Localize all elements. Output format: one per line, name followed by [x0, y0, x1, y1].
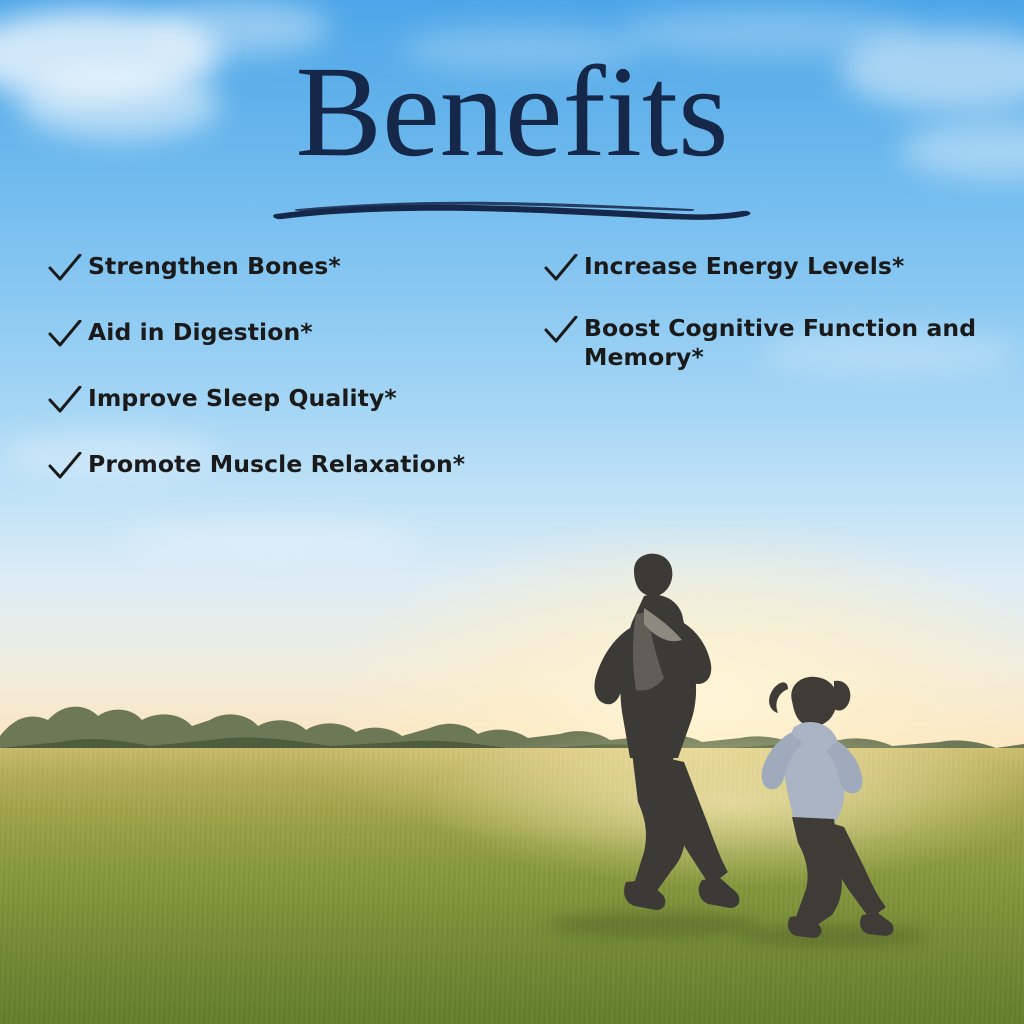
- cloud-shape: [120, 520, 420, 560]
- benefit-label: Aid in Digestion*: [88, 318, 313, 347]
- benefit-item: Aid in Digestion*: [48, 318, 518, 350]
- checkmark-icon: [48, 452, 82, 482]
- benefit-item: Promote Muscle Relaxation*: [48, 450, 518, 482]
- checkmark-icon: [544, 316, 578, 346]
- benefits-left-column: Strengthen Bones* Aid in Digestion* Impr…: [48, 252, 518, 516]
- page-title: Benefits: [0, 44, 1024, 181]
- checkmark-icon: [48, 254, 82, 284]
- benefits-poster: Benefits Strengthen Bones*: [0, 0, 1024, 1024]
- benefits-right-column: Increase Energy Levels* Boost Cognitive …: [544, 252, 984, 402]
- benefit-label: Increase Energy Levels*: [584, 252, 904, 281]
- benefit-label: Boost Cognitive Function and Memory*: [584, 314, 984, 372]
- benefit-label: Promote Muscle Relaxation*: [88, 450, 465, 479]
- checkmark-icon: [48, 386, 82, 416]
- benefit-item: Improve Sleep Quality*: [48, 384, 518, 416]
- title-underline-brushstroke: [272, 198, 754, 222]
- benefit-item: Increase Energy Levels*: [544, 252, 984, 284]
- benefit-item: Strengthen Bones*: [48, 252, 518, 284]
- checkmark-icon: [544, 254, 578, 284]
- benefit-label: Strengthen Bones*: [88, 252, 341, 281]
- benefit-label: Improve Sleep Quality*: [88, 384, 397, 413]
- benefits-list: Strengthen Bones* Aid in Digestion* Impr…: [40, 252, 984, 512]
- benefit-item: Boost Cognitive Function and Memory*: [544, 314, 984, 372]
- child-runner-silhouette: [730, 675, 920, 940]
- checkmark-icon: [48, 320, 82, 350]
